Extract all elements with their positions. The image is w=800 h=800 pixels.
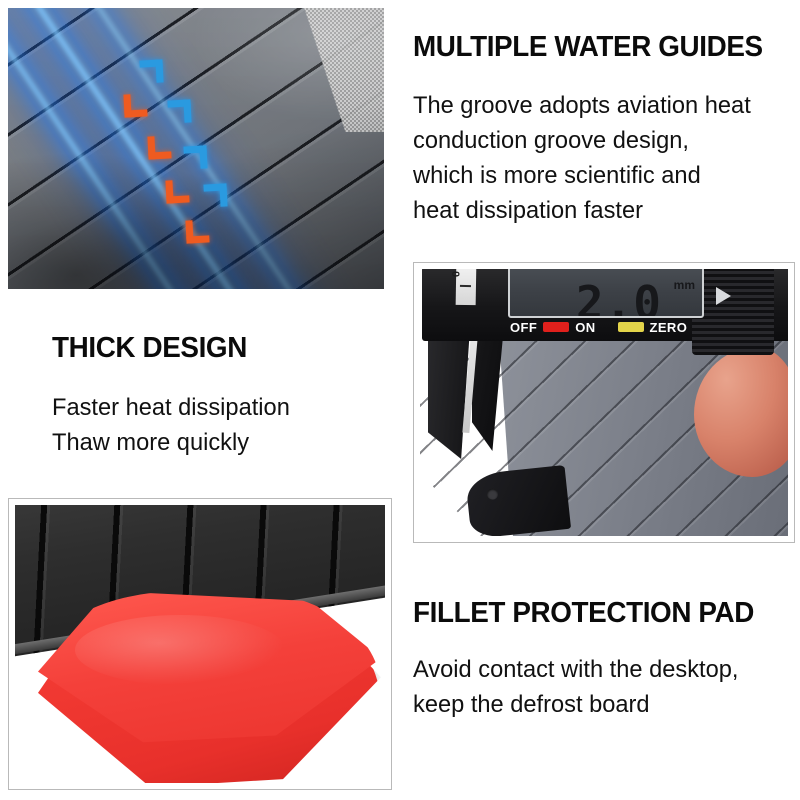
fillet-pad-heading: FILLET PROTECTION PAD bbox=[413, 598, 754, 628]
fillet-pad-body-line-1: Avoid contact with the desktop, bbox=[413, 652, 787, 687]
caliper-measurement-value: 2.0 bbox=[576, 280, 662, 318]
fillet-pad-body-line-2: keep the defrost board bbox=[413, 687, 787, 722]
caliper-off-label: OFF bbox=[510, 320, 537, 335]
water-guides-body-line-1: The groove adopts aviation heat bbox=[413, 88, 797, 123]
caliper-power-switch[interactable] bbox=[543, 322, 569, 332]
water-guides-photo-inner bbox=[8, 8, 384, 289]
caliper-zero-label: ZERO bbox=[650, 320, 688, 335]
thick-design-heading: THICK DESIGN bbox=[52, 333, 247, 363]
water-guides-heading: MULTIPLE WATER GUIDES bbox=[413, 32, 763, 62]
water-guides-body-line-3: which is more scientific and bbox=[413, 158, 797, 193]
play-triangle-icon bbox=[716, 287, 731, 305]
caliper-control-row: OFF ON ZERO bbox=[510, 315, 720, 339]
fillet-pad-photo bbox=[8, 498, 392, 790]
caliper-measurement-unit: mm bbox=[674, 278, 695, 292]
caliper-photo-inner: 0 2.0 mm OFF ON ZERO bbox=[420, 269, 788, 536]
thick-design-body-line-1: Faster heat dissipation bbox=[52, 390, 377, 425]
thick-design-body: Faster heat dissipation Thaw more quickl… bbox=[52, 390, 377, 460]
water-guides-body-line-4: heat dissipation faster bbox=[413, 193, 797, 228]
caliper-photo: 0 2.0 mm OFF ON ZERO bbox=[413, 262, 795, 543]
water-guides-photo bbox=[8, 8, 384, 289]
red-protection-pad-highlight bbox=[75, 615, 285, 685]
fillet-pad-photo-inner bbox=[15, 505, 385, 783]
caliper-lcd-display: 2.0 mm bbox=[508, 269, 704, 318]
water-guides-body: The groove adopts aviation heat conducti… bbox=[413, 88, 797, 228]
caliper-scale-zero-label: 0 bbox=[449, 271, 461, 277]
caliper-zero-button[interactable] bbox=[618, 322, 644, 332]
water-guides-body-line-2: conduction groove design, bbox=[413, 123, 797, 158]
thick-design-body-line-2: Thaw more quickly bbox=[52, 425, 377, 460]
caliper-thumb-grip bbox=[692, 269, 774, 355]
fillet-pad-body: Avoid contact with the desktop, keep the… bbox=[413, 652, 787, 722]
caliper-on-label: ON bbox=[575, 320, 595, 335]
